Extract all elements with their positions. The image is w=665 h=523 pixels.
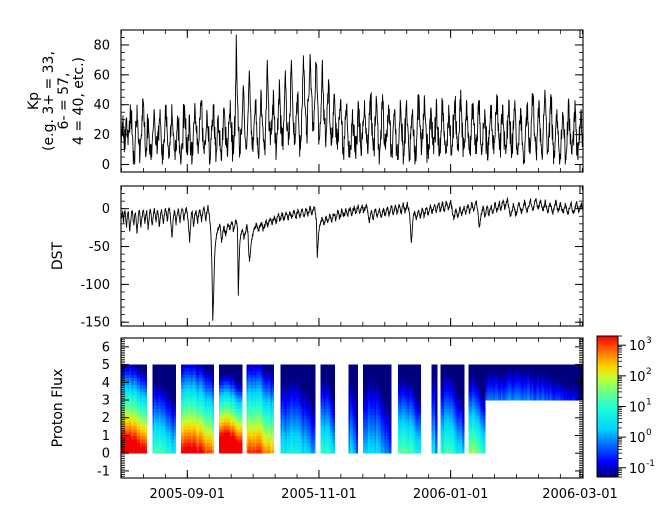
heatmap-cell (145, 371, 147, 375)
heatmap-cell (356, 450, 358, 454)
heatmap-cell (419, 440, 421, 444)
heatmap-cell (419, 385, 421, 389)
heatmap-cell (212, 450, 214, 454)
y-tick-label: 0 (102, 202, 110, 217)
heatmap-cell (272, 371, 274, 375)
heatmap-cell (272, 365, 274, 369)
heatmap-cell (145, 382, 147, 386)
heatmap-cell (389, 402, 391, 406)
heatmap-cell (483, 416, 485, 420)
heatmap-cell (333, 446, 335, 450)
kp-axis-label-line: Kp (26, 92, 42, 110)
heatmap-cell (313, 371, 315, 375)
heatmap-cell (356, 385, 358, 389)
heatmap-cell (483, 433, 485, 437)
heatmap-cell (174, 365, 176, 369)
heatmap-cell (483, 450, 485, 454)
heatmap-cell (435, 446, 437, 450)
y-tick-label: 20 (93, 128, 110, 143)
heatmap-cell (389, 423, 391, 427)
heatmap-cell (419, 436, 421, 440)
heatmap-cell (462, 450, 464, 454)
heatmap-cell (483, 440, 485, 444)
heatmap-cell (240, 368, 242, 372)
heatmap-cell (333, 433, 335, 437)
heatmap-cell (240, 375, 242, 379)
heatmap-cell (145, 392, 147, 396)
heatmap-cell (272, 395, 274, 399)
heatmap-cell (435, 412, 437, 416)
heatmap-cell (240, 405, 242, 409)
heatmap-cell (212, 375, 214, 379)
heatmap-cell (435, 385, 437, 389)
heatmap-cell (356, 371, 358, 375)
heatmap-cell (356, 405, 358, 409)
heatmap-cell (356, 436, 358, 440)
heatmap-cell (212, 365, 214, 369)
heatmap-cell (212, 378, 214, 382)
heatmap-cell (212, 385, 214, 389)
heatmap-cell (145, 368, 147, 372)
heatmap-cell (435, 368, 437, 372)
heatmap-cell (462, 402, 464, 406)
heatmap-cell (389, 365, 391, 369)
heatmap-cell (419, 368, 421, 372)
heatmap-cell (333, 423, 335, 427)
heatmap-cell (462, 412, 464, 416)
heatmap-cell (333, 409, 335, 413)
heatmap-cell (240, 416, 242, 420)
heatmap-cell (389, 378, 391, 382)
heatmap-cell (435, 440, 437, 444)
heatmap-cell (419, 446, 421, 450)
heatmap-cell (145, 402, 147, 406)
heatmap-cell (272, 392, 274, 396)
heatmap-cell (313, 426, 315, 430)
heatmap-cell (145, 412, 147, 416)
heatmap-cell (240, 433, 242, 437)
figure-svg: 020406080 Kp(e.g. 3+ = 33,6- = 57,4 = 40… (0, 0, 665, 523)
heatmap-cell (212, 440, 214, 444)
heatmap-cell (145, 443, 147, 447)
heatmap-cell (272, 416, 274, 420)
y-tick-label: 60 (93, 68, 110, 83)
heatmap-cell (240, 395, 242, 399)
heatmap-cell (462, 365, 464, 369)
heatmap-cell (272, 450, 274, 454)
heatmap-cell (313, 378, 315, 382)
heatmap-cell (272, 443, 274, 447)
heatmap-cell (333, 436, 335, 440)
heatmap-cell (313, 416, 315, 420)
heatmap-cell (272, 440, 274, 444)
heatmap-cell (174, 378, 176, 382)
heatmap-cell (419, 426, 421, 430)
heatmap-cell (212, 433, 214, 437)
heatmap-cell (145, 399, 147, 403)
heatmap-cell (356, 392, 358, 396)
heatmap-cell (435, 365, 437, 369)
heatmap-cell (174, 423, 176, 427)
heatmap-cell (272, 429, 274, 433)
heatmap-cell (174, 371, 176, 375)
heatmap-cell (435, 395, 437, 399)
heatmap-cell (272, 433, 274, 437)
heatmap-cell (333, 416, 335, 420)
heatmap-cell (483, 409, 485, 413)
heatmap-cell (389, 436, 391, 440)
heatmap-cell (419, 378, 421, 382)
heatmap-cell (356, 429, 358, 433)
heatmap-cell (240, 399, 242, 403)
heatmap-cell (174, 395, 176, 399)
heatmap-cell (435, 416, 437, 420)
heatmap-cell (483, 405, 485, 409)
heatmap-cell (435, 450, 437, 454)
heatmap-cell (419, 450, 421, 454)
heatmap-cell (145, 365, 147, 369)
heatmap-cell (145, 409, 147, 413)
heatmap-cell (240, 443, 242, 447)
heatmap-cell (145, 433, 147, 437)
heatmap-cell (313, 399, 315, 403)
heatmap-cell (240, 429, 242, 433)
heatmap-cell (240, 382, 242, 386)
heatmap-cell (462, 399, 464, 403)
heatmap-cell (174, 443, 176, 447)
heatmap-cell (333, 395, 335, 399)
heatmap-cell (174, 419, 176, 423)
heatmap-cell (145, 429, 147, 433)
heatmap-cell (356, 378, 358, 382)
heatmap-cell (240, 426, 242, 430)
heatmap-cell (435, 423, 437, 427)
heatmap-cell (313, 365, 315, 369)
heatmap-cell (462, 416, 464, 420)
heatmap-cell (272, 446, 274, 450)
heatmap-cell (145, 426, 147, 430)
heatmap-cell (462, 368, 464, 372)
heatmap-cell (212, 426, 214, 430)
heatmap-cell (174, 399, 176, 403)
heatmap-cell (419, 392, 421, 396)
heatmap-cell (145, 419, 147, 423)
heatmap-cell (483, 426, 485, 430)
heatmap-cell (145, 450, 147, 454)
heatmap-cell (435, 433, 437, 437)
heatmap-cell (272, 426, 274, 430)
heatmap-cell (389, 371, 391, 375)
heatmap-cell (435, 378, 437, 382)
heatmap-cell (145, 385, 147, 389)
heatmap-cell (174, 375, 176, 379)
heatmap-cell (212, 416, 214, 420)
heatmap-cell (356, 426, 358, 430)
y-tick-label: -100 (80, 278, 110, 293)
heatmap-cell (389, 446, 391, 450)
y-tick-label: 0 (102, 158, 110, 173)
heatmap-cell (145, 423, 147, 427)
heatmap-cell (462, 429, 464, 433)
heatmap-cell (356, 395, 358, 399)
heatmap-cell (313, 419, 315, 423)
heatmap-cell (212, 443, 214, 447)
heatmap-cell (174, 382, 176, 386)
heatmap-cell (240, 388, 242, 392)
proton-flux-panel: -10123456 Proton Flux 2005-09-012005-11-… (50, 338, 618, 502)
heatmap-cell (333, 371, 335, 375)
heatmap-cell (240, 365, 242, 369)
heatmap-cell (435, 375, 437, 379)
heatmap-cell (419, 416, 421, 420)
heatmap-cell (419, 409, 421, 413)
heatmap-cell (435, 426, 437, 430)
heatmap-cell (333, 450, 335, 454)
heatmap-cell (313, 443, 315, 447)
heatmap-cell (419, 375, 421, 379)
heatmap-cell (333, 426, 335, 430)
heatmap-cell (174, 392, 176, 396)
heatmap-cell (462, 388, 464, 392)
heatmap-cell (462, 409, 464, 413)
heatmap-cell (389, 419, 391, 423)
heatmap-cell (145, 436, 147, 440)
heatmap-cell (389, 399, 391, 403)
heatmap-cell (483, 429, 485, 433)
heatmap-cell (435, 429, 437, 433)
heatmap-cell (462, 405, 464, 409)
heatmap-cell (272, 402, 274, 406)
heatmap-cell (483, 443, 485, 447)
heatmap-cell (145, 378, 147, 382)
heatmap-cell (333, 412, 335, 416)
heatmap-cell (240, 440, 242, 444)
heatmap-cell (356, 412, 358, 416)
heatmap-cell (240, 412, 242, 416)
heatmap-cell (462, 423, 464, 427)
heatmap-cell (212, 436, 214, 440)
heatmap-cell (435, 382, 437, 386)
heatmap-cell (333, 443, 335, 447)
heatmap-cell (389, 375, 391, 379)
heatmap-cell (212, 371, 214, 375)
heatmap-cell (272, 388, 274, 392)
heatmap-cell (435, 405, 437, 409)
heatmap-cell (240, 419, 242, 423)
heatmap-cell (389, 443, 391, 447)
heatmap-cell (462, 375, 464, 379)
heatmap-cell (272, 382, 274, 386)
heatmap-cell (212, 423, 214, 427)
heatmap-cell (313, 412, 315, 416)
heatmap-cell (212, 388, 214, 392)
heatmap-cell (389, 382, 391, 386)
heatmap-cell (419, 402, 421, 406)
heatmap-cell (240, 385, 242, 389)
heatmap-cell (419, 365, 421, 369)
heatmap-cell (313, 385, 315, 389)
heatmap-cell (333, 365, 335, 369)
heatmap-cell (356, 399, 358, 403)
heatmap-cell (272, 399, 274, 403)
heatmap-cell (462, 446, 464, 450)
heatmap-cell (212, 395, 214, 399)
heatmap-cell (356, 402, 358, 406)
heatmap-cell (356, 375, 358, 379)
heatmap-cell (212, 382, 214, 386)
heatmap-cell (419, 399, 421, 403)
heatmap-cell (419, 412, 421, 416)
y-tick-label: 40 (93, 98, 110, 113)
heatmap-cell (174, 426, 176, 430)
heatmap-cell (435, 399, 437, 403)
heatmap-cell (174, 368, 176, 372)
heatmap-cell (356, 440, 358, 444)
y-tick-label: -50 (89, 240, 110, 255)
heatmap-cell (174, 450, 176, 454)
heatmap-cell (435, 402, 437, 406)
heatmap-cell (483, 423, 485, 427)
heatmap-cell (240, 450, 242, 454)
heatmap-cell (174, 416, 176, 420)
heatmap-cell (483, 412, 485, 416)
heatmap-cell (145, 395, 147, 399)
heatmap-cell (313, 433, 315, 437)
heatmap-cell (389, 392, 391, 396)
heatmap-cell (145, 375, 147, 379)
heatmap-cell (313, 405, 315, 409)
heatmap-cell (333, 392, 335, 396)
heatmap-cell (313, 450, 315, 454)
heatmap-cell (174, 436, 176, 440)
heatmap-cell (313, 436, 315, 440)
heatmap-cell (240, 446, 242, 450)
heatmap-cell (240, 378, 242, 382)
heatmap-cell (389, 450, 391, 454)
heatmap-cell (313, 409, 315, 413)
heatmap-cell (419, 423, 421, 427)
heatmap-cell (356, 416, 358, 420)
heatmap-cell (356, 433, 358, 437)
heatmap-cell (419, 429, 421, 433)
y-tick-label: 80 (93, 38, 110, 53)
dst-axis-label: DST (50, 241, 66, 270)
heatmap-cell (389, 440, 391, 444)
heatmap-cell (313, 392, 315, 396)
heatmap-cell (462, 395, 464, 399)
heatmap-cell (333, 440, 335, 444)
heatmap-cell (333, 378, 335, 382)
heatmap-cell (462, 392, 464, 396)
heatmap-cell (174, 446, 176, 450)
dst-panel: 0-50-100-150 DST (50, 186, 583, 331)
heatmap-cell (419, 433, 421, 437)
heatmap-cell (389, 409, 391, 413)
heatmap-cell (333, 419, 335, 423)
heatmap-cell (145, 446, 147, 450)
heatmap-cell (145, 440, 147, 444)
heatmap-cell (333, 399, 335, 403)
heatmap-cell (212, 412, 214, 416)
heatmap-cell (435, 371, 437, 375)
heatmap-cell (389, 395, 391, 399)
heatmap-cell (212, 429, 214, 433)
heatmap-cell (389, 429, 391, 433)
heatmap-cell (419, 405, 421, 409)
heatmap-cell (174, 440, 176, 444)
heatmap-cell (174, 409, 176, 413)
y-tick-label: -150 (80, 316, 110, 331)
heatmap-cell (389, 385, 391, 389)
heatmap-cell (435, 409, 437, 413)
heatmap-cell (462, 426, 464, 430)
heatmap-cell (174, 385, 176, 389)
heatmap-cell (272, 368, 274, 372)
heatmap-cell (356, 388, 358, 392)
heatmap-cell (356, 409, 358, 413)
heatmap-cell (333, 382, 335, 386)
heatmap-cell (483, 436, 485, 440)
heatmap-cell (240, 392, 242, 396)
kp-axis-label-line: 4 = 40, etc.) (71, 57, 87, 145)
heatmap-cell (174, 402, 176, 406)
heatmap-cell (333, 368, 335, 372)
heatmap-cell (333, 388, 335, 392)
heatmap-cell (174, 433, 176, 437)
heatmap-cell (389, 388, 391, 392)
heatmap-cell (313, 423, 315, 427)
heatmap-cell (272, 412, 274, 416)
heatmap-cell (462, 371, 464, 375)
heatmap-cell (272, 436, 274, 440)
heatmap-cell (145, 405, 147, 409)
heatmap-cell (240, 409, 242, 413)
heatmap-cell (419, 419, 421, 423)
heatmap-cell (272, 385, 274, 389)
heatmap-cell (483, 419, 485, 423)
heatmap-cell (240, 436, 242, 440)
heatmap-cell (419, 371, 421, 375)
heatmap-cell (333, 375, 335, 379)
heatmap-cell (174, 405, 176, 409)
heatmap-cell (174, 388, 176, 392)
heatmap-cell (313, 429, 315, 433)
heatmap-cell (356, 423, 358, 427)
heatmap-cell (313, 368, 315, 372)
heatmap-cell (313, 402, 315, 406)
heatmap-cell (356, 443, 358, 447)
heatmap-cell (313, 375, 315, 379)
heatmap-cell (174, 412, 176, 416)
heatmap-cell (272, 423, 274, 427)
heatmap-cell (313, 382, 315, 386)
heatmap-cell (272, 405, 274, 409)
heatmap-cell (462, 419, 464, 423)
heatmap-cell (435, 419, 437, 423)
heatmap-cell (212, 405, 214, 409)
heatmap-cell (419, 395, 421, 399)
heatmap-cell (356, 382, 358, 386)
heatmap-cell (462, 382, 464, 386)
heatmap-cell (313, 446, 315, 450)
heatmap-cell (240, 371, 242, 375)
heatmap-cell (435, 392, 437, 396)
heatmap-cell (333, 402, 335, 406)
kp-axis-label-line: 6- = 57, (56, 73, 72, 130)
heatmap-cell (212, 409, 214, 413)
heatmap-cell (240, 402, 242, 406)
heatmap-cell (462, 433, 464, 437)
